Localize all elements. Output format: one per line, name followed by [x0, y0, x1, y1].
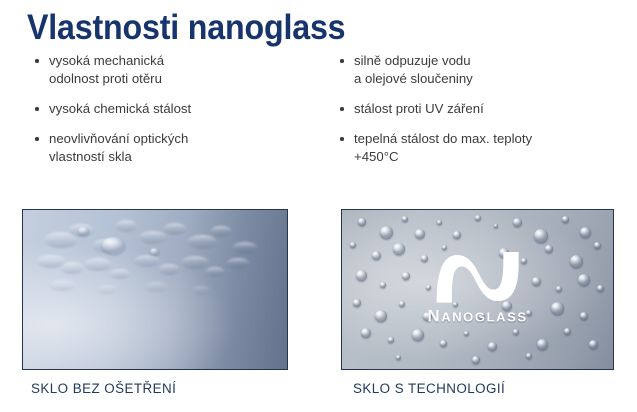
- list-item: neovlivňování optických vlastností skla: [33, 130, 320, 166]
- feature-text: stálost proti UV záření: [354, 100, 637, 118]
- bullet-icon: [340, 59, 344, 63]
- feature-list-left: vysoká mechanická odolnost proti otěru v…: [33, 52, 320, 166]
- caption-untreated-glass: SKLO BEZ OŠETŘENÍ: [31, 380, 176, 398]
- bullet-icon: [35, 107, 39, 111]
- features-left-column: vysoká mechanická odolnost proti otěru v…: [0, 52, 320, 166]
- list-item: stálost proti UV záření: [338, 100, 637, 118]
- feature-text: neovlivňování optických vlastností skla: [49, 130, 320, 166]
- bullet-icon: [35, 137, 39, 141]
- feature-text: tepelná stálost do max. teploty +450°C: [354, 130, 637, 166]
- panel-untreated-glass: [22, 209, 288, 370]
- bullet-icon: [35, 59, 39, 63]
- bullet-icon: [340, 107, 344, 111]
- features-right-column: silně odpuzuje vodu a olejové sloučeniny…: [320, 52, 637, 166]
- list-item: silně odpuzuje vodu a olejové sloučeniny: [338, 52, 637, 88]
- bullet-icon: [340, 137, 344, 141]
- panel-treated-glass: NANOGLASS: [341, 209, 614, 370]
- feature-text: vysoká mechanická odolnost proti otěru: [49, 52, 320, 88]
- list-item: vysoká mechanická odolnost proti otěru: [33, 52, 320, 88]
- features-section: vysoká mechanická odolnost proti otěru v…: [0, 52, 637, 166]
- untreated-glass-photo: [23, 210, 287, 369]
- caption-treated-glass: SKLO S TECHNOLOGIÍ: [353, 380, 505, 398]
- slide-root: Vlastnosti nanoglass vysoká mechanická o…: [0, 0, 637, 412]
- treated-glass-photo: NANOGLASS: [342, 210, 613, 369]
- list-item: vysoká chemická stálost: [33, 100, 320, 118]
- feature-text: vysoká chemická stálost: [49, 100, 320, 118]
- page-title: Vlastnosti nanoglass: [27, 8, 345, 48]
- feature-text: silně odpuzuje vodu a olejové sloučeniny: [354, 52, 637, 88]
- nanoglass-logo-icon: [432, 245, 524, 307]
- feature-list-right: silně odpuzuje vodu a olejové sloučeniny…: [338, 52, 637, 166]
- list-item: tepelná stálost do max. teploty +450°C: [338, 130, 637, 166]
